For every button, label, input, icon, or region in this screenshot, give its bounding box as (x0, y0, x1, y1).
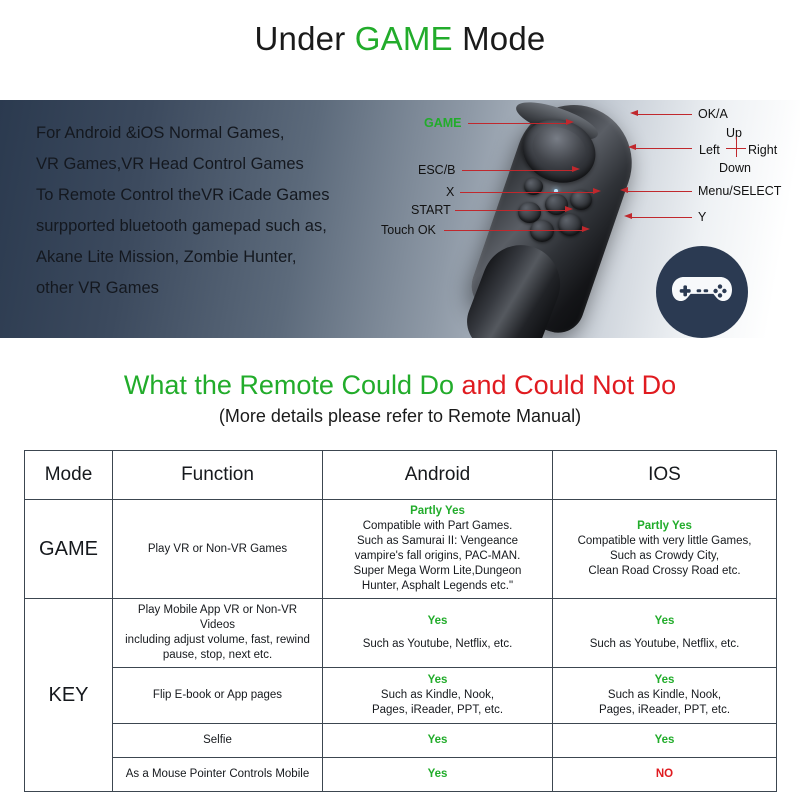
cell-android-key-ebook: Yes Such as Kindle, Nook, Pages, iReader… (323, 668, 553, 724)
label-menu-select: Menu/SELECT (698, 184, 781, 198)
hero-line-1: For Android &iOS Normal Games, (36, 118, 416, 149)
cell-android-key-mouse: Yes (323, 758, 553, 792)
status-ios-key-ebook: Yes (559, 673, 770, 688)
status-ios-game: Partly Yes (559, 519, 770, 534)
status-ios-key-selfie: Yes (559, 733, 770, 748)
gamepad-badge (654, 244, 750, 338)
page-title: Under GAME Mode (0, 20, 800, 58)
table-row: Flip E-book or App pages Yes Such as Kin… (25, 668, 777, 724)
dpad-cross-vertical (736, 137, 737, 157)
comparison-table: Mode Function Android IOS GAME Play VR o… (24, 450, 777, 792)
leader-line-dpad (636, 148, 692, 149)
status-android-game: Partly Yes (329, 504, 546, 519)
hero-line-4: surpported bluetooth gamepad such as, (36, 211, 416, 242)
arrow-x (593, 188, 601, 194)
leader-line-menu-select (628, 191, 692, 192)
label-start: START (411, 203, 451, 217)
label-oka: OK/A (698, 107, 728, 121)
cell-ios-game: Partly Yes Compatible with very little G… (553, 500, 777, 599)
detail-ios-game: Compatible with very little Games, Such … (559, 534, 770, 579)
header-ios: IOS (553, 451, 777, 500)
cell-function-key-ebook: Flip E-book or App pages (113, 668, 323, 724)
cell-mode-key: KEY (25, 599, 113, 792)
detail-android-game: Compatible with Part Games. Such as Samu… (329, 519, 546, 594)
cell-android-key-selfie: Yes (323, 724, 553, 758)
label-game: GAME (424, 116, 462, 130)
leader-line-x (460, 192, 595, 193)
page-title-pre: Under (255, 20, 355, 57)
status-android-key-ebook: Yes (329, 673, 546, 688)
table-row: GAME Play VR or Non-VR Games Partly Yes … (25, 500, 777, 599)
hero-line-3: To Remote Control theVR iCade Games (36, 180, 416, 211)
hero-banner: For Android &iOS Normal Games, VR Games,… (0, 100, 800, 338)
button-touch-ok (530, 220, 554, 242)
cell-function-key-video: Play Mobile App VR or Non-VR Videos incl… (113, 599, 323, 668)
status-android-key-video: Yes (329, 614, 546, 629)
table-row: Selfie Yes Yes (25, 724, 777, 758)
header-android: Android (323, 451, 553, 500)
section-heading-green: What the Remote Could Do (124, 370, 462, 400)
detail-android-key-video: Such as Youtube, Netflix, etc. (329, 637, 546, 652)
detail-android-key-ebook: Such as Kindle, Nook, Pages, iReader, PP… (329, 688, 546, 718)
label-x: X (446, 185, 454, 199)
label-down: Down (719, 161, 751, 175)
dpad-cross-horizontal (726, 148, 746, 149)
status-ios-key-video: Yes (559, 614, 770, 629)
arrow-oka (630, 110, 638, 116)
arrow-touch-ok (582, 226, 590, 232)
label-left: Left (699, 143, 720, 157)
header-mode: Mode (25, 451, 113, 500)
arrow-dpad (628, 144, 636, 150)
cell-function-key-mouse: As a Mouse Pointer Controls Mobile (113, 758, 323, 792)
page-title-accent: GAME (355, 20, 453, 57)
hero-line-5: Akane Lite Mission, Zombie Hunter, (36, 242, 416, 273)
hero-description: For Android &iOS Normal Games, VR Games,… (36, 118, 416, 304)
cell-android-game: Partly Yes Compatible with Part Games. S… (323, 500, 553, 599)
leader-line-game (468, 123, 568, 124)
hero-line-6: other VR Games (36, 273, 416, 304)
detail-ios-key-video: Such as Youtube, Netflix, etc. (559, 637, 770, 652)
label-right: Right (748, 143, 777, 157)
spacer (329, 629, 546, 637)
status-ios-key-mouse: NO (559, 767, 770, 782)
detail-ios-key-ebook: Such as Kindle, Nook, Pages, iReader, PP… (559, 688, 770, 718)
label-up: Up (726, 126, 742, 140)
leader-line-y (632, 217, 692, 218)
arrow-escb (572, 166, 580, 172)
label-touch-ok: Touch OK (381, 223, 436, 237)
arrow-menu-select (620, 187, 628, 193)
section-subtitle: (More details please refer to Remote Man… (0, 406, 800, 427)
arrow-game (566, 119, 574, 125)
header-function: Function (113, 451, 323, 500)
button-menu-select (570, 190, 592, 210)
vr-remote-illustration (470, 100, 680, 338)
section-heading: What the Remote Could Do and Could Not D… (0, 370, 800, 401)
table-row: KEY Play Mobile App VR or Non-VR Videos … (25, 599, 777, 668)
page-title-post: Mode (453, 20, 546, 57)
leader-line-start (455, 210, 567, 211)
status-android-key-mouse: Yes (329, 767, 546, 782)
status-android-key-selfie: Yes (329, 733, 546, 748)
cell-ios-key-ebook: Yes Such as Kindle, Nook, Pages, iReader… (553, 668, 777, 724)
button-y (558, 214, 582, 236)
label-y: Y (698, 210, 706, 224)
leader-line-touch-ok (444, 230, 584, 231)
cell-ios-key-mouse: NO (553, 758, 777, 792)
spacer (559, 629, 770, 637)
cell-ios-key-selfie: Yes (553, 724, 777, 758)
cell-android-key-video: Yes Such as Youtube, Netflix, etc. (323, 599, 553, 668)
cell-ios-key-video: Yes Such as Youtube, Netflix, etc. (553, 599, 777, 668)
cell-function-game: Play VR or Non-VR Games (113, 500, 323, 599)
section-heading-red: and Could Not Do (462, 370, 677, 400)
table-header-row: Mode Function Android IOS (25, 451, 777, 500)
cell-function-key-selfie: Selfie (113, 724, 323, 758)
label-escb: ESC/B (418, 163, 456, 177)
leader-line-oka (638, 114, 692, 115)
table-row: As a Mouse Pointer Controls Mobile Yes N… (25, 758, 777, 792)
cell-mode-game: GAME (25, 500, 113, 599)
leader-line-escb (462, 170, 574, 171)
hero-line-2: VR Games,VR Head Control Games (36, 149, 416, 180)
arrow-start (565, 206, 573, 212)
arrow-y (624, 213, 632, 219)
